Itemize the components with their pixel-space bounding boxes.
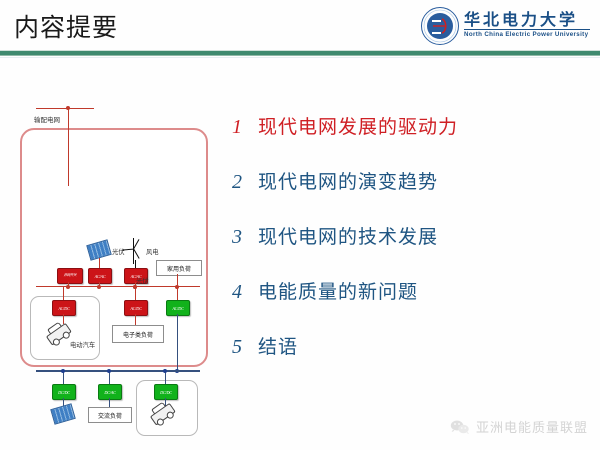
- agenda-label: 现代电网发展的驱动力: [258, 112, 458, 139]
- wire-eload-box: [135, 314, 136, 325]
- point-of-common-coupling-wire: [68, 108, 69, 186]
- wire-interlink-dcbus: [177, 314, 178, 371]
- electronic-load-box[interactable]: 电子类负荷: [112, 325, 164, 343]
- agenda-number: 3: [232, 226, 258, 249]
- agenda-number: 1: [232, 116, 258, 139]
- converter-grid-switch[interactable]: 并网开关: [57, 268, 83, 284]
- wire-pv-conv: [99, 258, 100, 268]
- dc-bus-node: [61, 369, 65, 373]
- wechat-icon: [450, 419, 470, 435]
- utility-feeder-line: [36, 108, 94, 109]
- dc-bus-node: [107, 369, 111, 373]
- agenda-item-2[interactable]: 2 现代电网的演变趋势: [232, 167, 532, 222]
- page-title: 内容提要: [14, 8, 118, 44]
- wind-label: 风电: [146, 247, 159, 256]
- wire-bus-evconv: [63, 287, 64, 300]
- home-load-box[interactable]: 家用负荷: [156, 260, 202, 276]
- agenda-label: 现代电网的演变趋势: [258, 167, 438, 194]
- watermark: 亚洲电能质量联盟: [450, 417, 588, 436]
- pv-panel-icon: [50, 403, 76, 424]
- agenda-label: 现代电网的技术发展: [258, 222, 438, 249]
- bus-node: [66, 285, 70, 289]
- agenda-number: 4: [232, 281, 258, 304]
- wire-bus-interlink: [177, 287, 178, 300]
- ev-label: 电动汽车: [70, 340, 95, 349]
- wire-conv-acload: [109, 398, 110, 407]
- bus-node: [133, 285, 137, 289]
- agenda-number: 5: [232, 336, 258, 359]
- logo-en-name: North China Electric Power University: [464, 31, 588, 38]
- agenda-item-4[interactable]: 4 电能质量的新问题: [232, 277, 532, 332]
- title-divider: [0, 50, 600, 58]
- logo-rule: [464, 29, 590, 30]
- agenda-item-5[interactable]: 5 结语: [232, 332, 532, 387]
- logo-cn-name: 华北电力大学: [464, 6, 578, 30]
- agenda-label: 电能质量的新问题: [258, 277, 418, 304]
- university-logo: 华北电力大学 North China Electric Power Univer…: [420, 4, 592, 48]
- slide-canvas: 内容提要 华北电力大学 North China Electric Power U…: [0, 0, 600, 450]
- ac-load-box[interactable]: 交流负荷: [88, 407, 132, 423]
- agenda-item-3[interactable]: 3 现代电网的技术发展: [232, 222, 532, 277]
- agenda-list: 1 现代电网发展的驱动力 2 现代电网的演变趋势 3 现代电网的技术发展 4 电…: [232, 112, 532, 387]
- agenda-item-1[interactable]: 1 现代电网发展的驱动力: [232, 112, 532, 167]
- agenda-label: 结语: [258, 332, 298, 359]
- pv-mid-label: 光伏: [136, 276, 149, 285]
- bus-node: [97, 285, 101, 289]
- microgrid-diagram: 输配电网 光伏 风电 并网开关 AC/AC AC/AC 家用负荷: [16, 100, 216, 370]
- agenda-number: 2: [232, 171, 258, 194]
- university-emblem-icon: [420, 6, 460, 46]
- wire-wind-conv: [135, 260, 136, 268]
- watermark-label: 亚洲电能质量联盟: [476, 417, 588, 436]
- grid-label: 输配电网: [34, 114, 60, 124]
- dc-bus-node: [163, 369, 167, 373]
